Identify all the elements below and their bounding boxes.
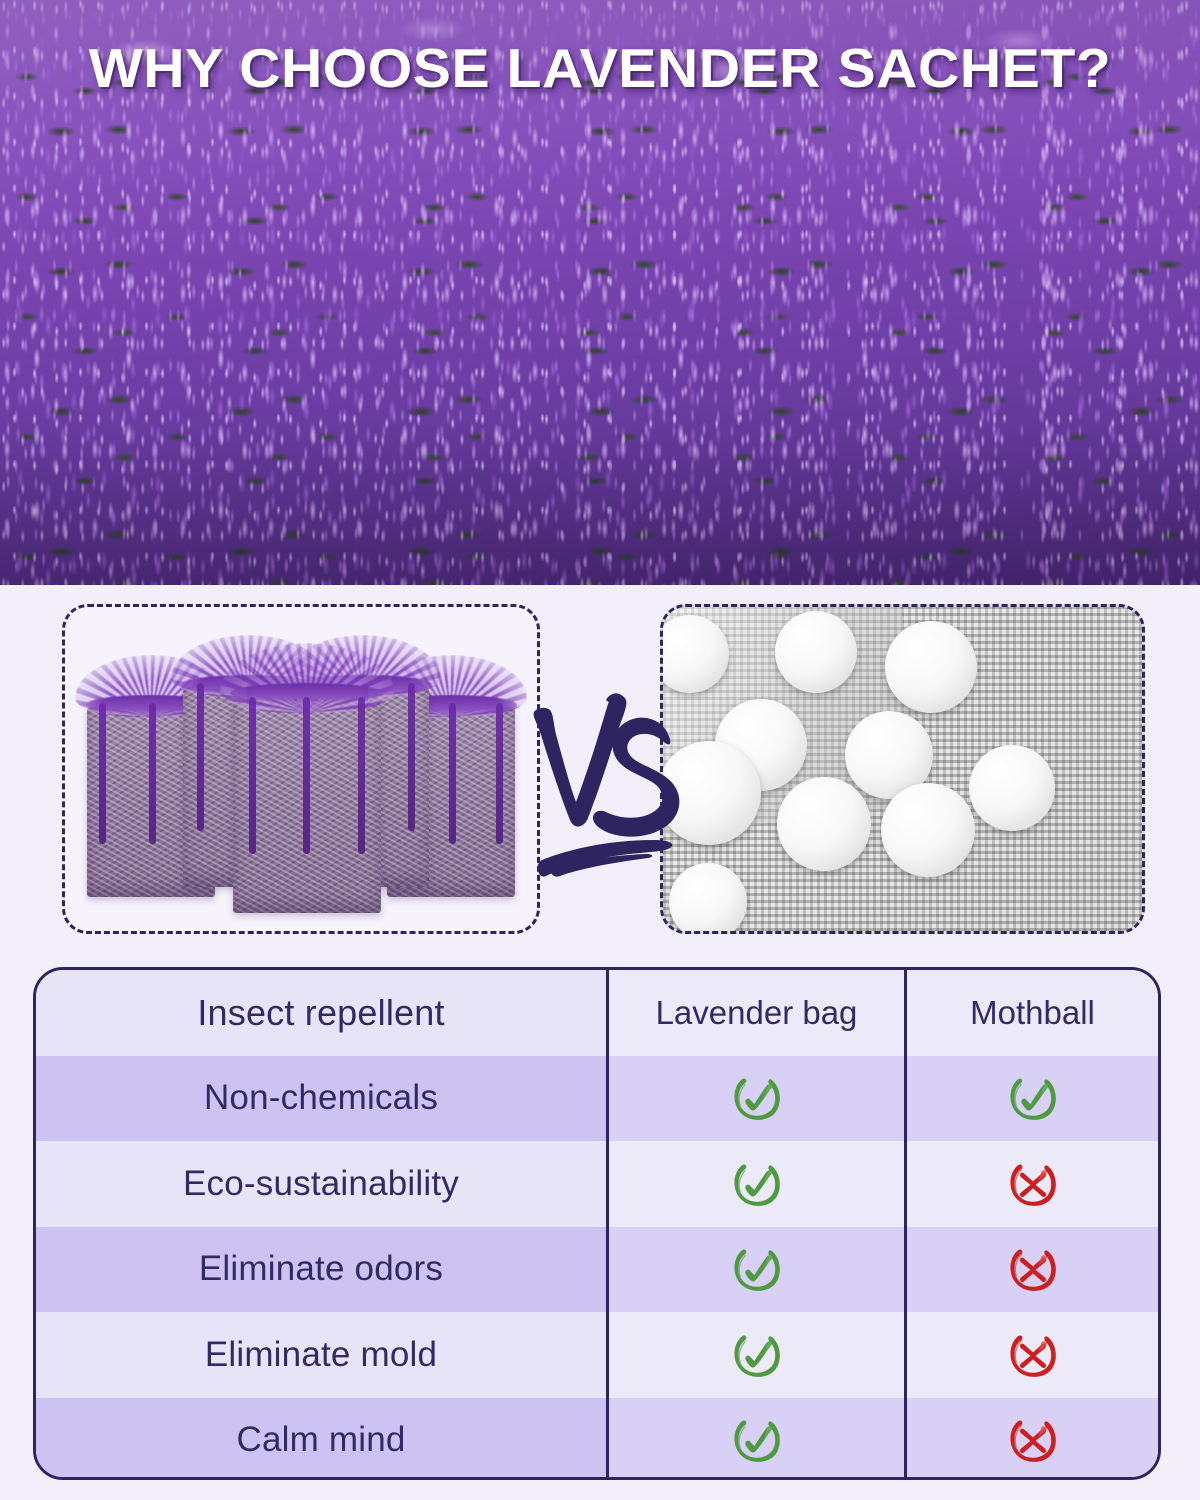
table-header-row: Insect repellent Lavender bag Mothball [36, 970, 1158, 1056]
mothball-value [904, 1056, 1158, 1142]
check-icon [731, 1414, 783, 1466]
cross-icon [1007, 1158, 1059, 1210]
lavender-bag-value [606, 1398, 904, 1481]
feature-label: Eco-sustainability [36, 1141, 606, 1227]
table-row: Calm mind [36, 1398, 1158, 1481]
table-header-feature: Insect repellent [36, 970, 606, 1056]
table-header-lavender-bag: Lavender bag [606, 970, 904, 1056]
cross-icon [1007, 1414, 1059, 1466]
table-row: Eliminate odors [36, 1227, 1158, 1313]
comparison-table: Insect repellent Lavender bag Mothball N… [33, 967, 1161, 1480]
lavender-bag-value [606, 1056, 904, 1142]
check-icon [731, 1158, 783, 1210]
lavender-bag-value [606, 1227, 904, 1313]
hero-lavender-field-image: WHY CHOOSE LAVENDER SACHET? [0, 0, 1200, 585]
check-icon [731, 1243, 783, 1295]
lavender-bag-value [606, 1312, 904, 1398]
table-row: Eliminate mold [36, 1312, 1158, 1398]
mothball-panel [660, 604, 1145, 934]
feature-label: Calm mind [36, 1398, 606, 1481]
check-icon [1007, 1072, 1059, 1124]
feature-label: Eliminate odors [36, 1227, 606, 1313]
table-header-mothball: Mothball [904, 970, 1158, 1056]
mothball-value [904, 1141, 1158, 1227]
feature-label: Non-chemicals [36, 1056, 606, 1142]
page-title: WHY CHOOSE LAVENDER SACHET? [0, 36, 1200, 100]
table-row: Eco-sustainability [36, 1141, 1158, 1227]
feature-label: Eliminate mold [36, 1312, 606, 1398]
table-row: Non-chemicals [36, 1056, 1158, 1142]
mothball-image [663, 607, 1142, 931]
mothball-value [904, 1227, 1158, 1313]
check-icon [731, 1072, 783, 1124]
mothball-value [904, 1398, 1158, 1481]
vs-brush-label: VS [520, 690, 680, 880]
cross-icon [1007, 1329, 1059, 1381]
mothball-value [904, 1312, 1158, 1398]
check-icon [731, 1329, 783, 1381]
infographic-page: WHY CHOOSE LAVENDER SACHET? [0, 0, 1200, 1500]
lavender-sachet-panel [62, 604, 540, 934]
lavender-sachet-image [65, 607, 537, 931]
lavender-bag-value [606, 1141, 904, 1227]
cross-icon [1007, 1243, 1059, 1295]
